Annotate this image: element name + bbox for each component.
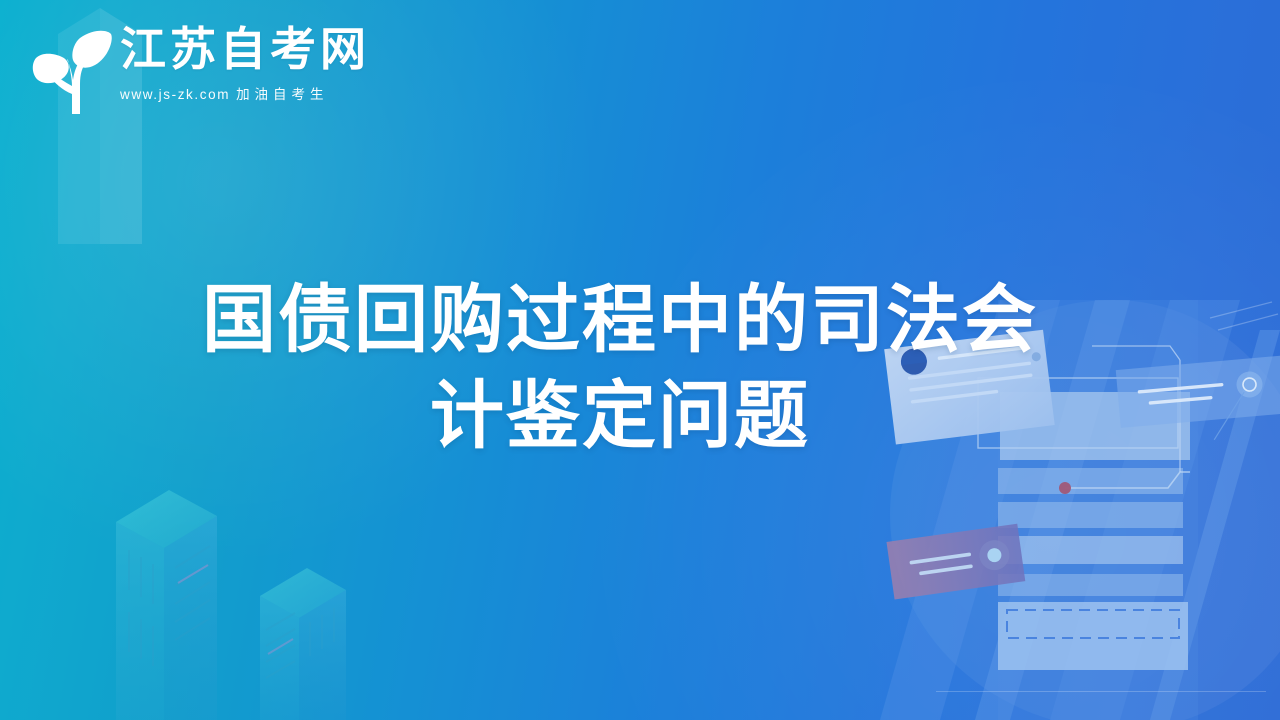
building-tall	[116, 490, 217, 720]
building-short	[260, 568, 346, 720]
logo-slogan: 加油自考生	[236, 87, 329, 102]
logo-site-name: 江苏自考网	[120, 26, 370, 74]
logo-url: www.js-zk.com	[120, 87, 230, 102]
bottom-divider	[936, 691, 1266, 692]
banner-root: 江苏自考网 www.js-zk.com加油自考生	[0, 0, 1280, 720]
logo-text-block: 江苏自考网 www.js-zk.com加油自考生	[120, 22, 370, 103]
sprout-icon	[28, 24, 114, 116]
page-title: 国债回购过程中的司法会 计鉴定问题	[150, 272, 1090, 464]
page-title-line-2: 计鉴定问题	[150, 368, 1090, 464]
isometric-buildings	[96, 450, 396, 720]
page-title-line-1: 国债回购过程中的司法会	[150, 272, 1090, 368]
site-logo[interactable]: 江苏自考网 www.js-zk.com加油自考生	[28, 22, 370, 116]
logo-subtitle: www.js-zk.com加油自考生	[120, 83, 370, 103]
